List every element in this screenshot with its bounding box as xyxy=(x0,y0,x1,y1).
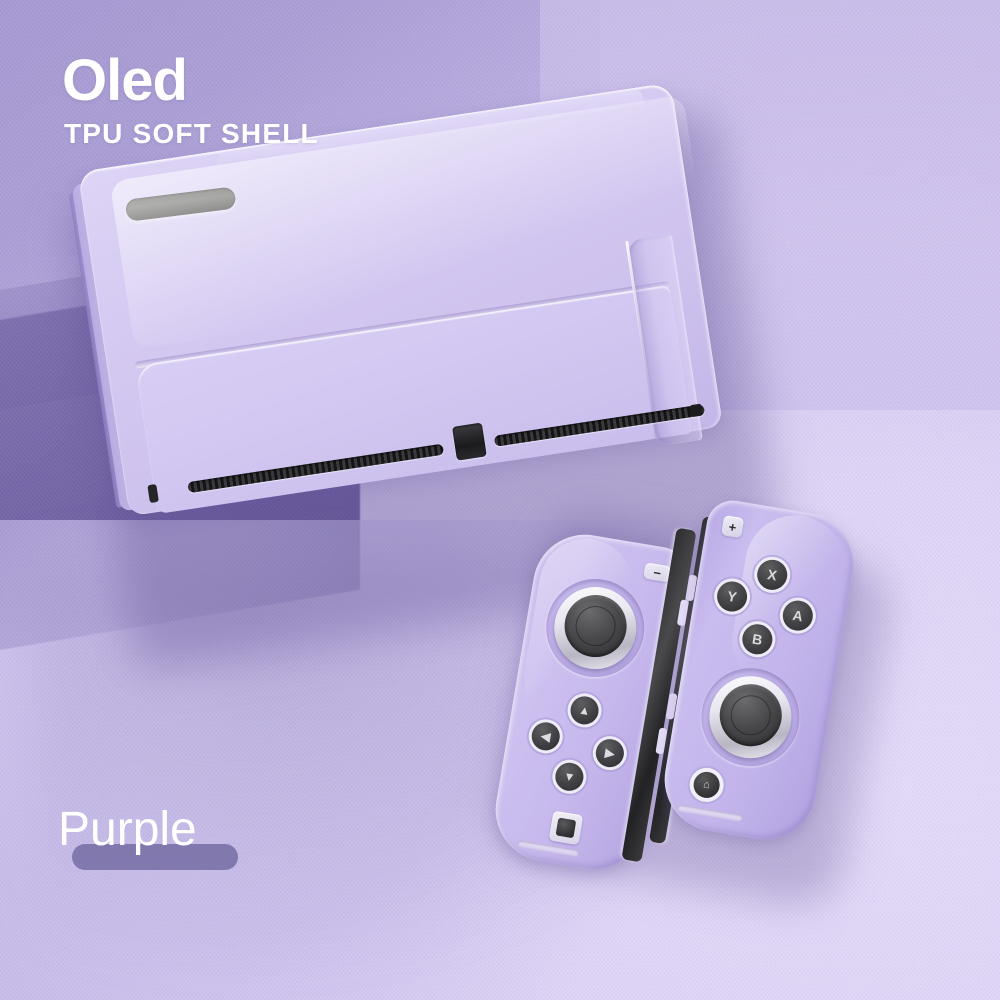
a-button-label: A xyxy=(792,607,805,624)
dpad-right-button[interactable]: ▶ xyxy=(594,737,626,769)
x-button-label: X xyxy=(766,566,778,583)
minus-label: − xyxy=(652,565,662,579)
b-button[interactable]: B xyxy=(740,622,775,657)
color-name-badge: Purple xyxy=(58,800,298,880)
a-button[interactable]: A xyxy=(781,598,816,633)
y-button[interactable]: Y xyxy=(715,579,750,614)
dpad-left-button[interactable]: ◀ xyxy=(530,720,562,752)
dpad-down-button[interactable]: ▼ xyxy=(553,761,585,793)
joycon-right-bottom-slot xyxy=(677,804,743,822)
plus-label: + xyxy=(728,520,738,534)
page-title: Oled xyxy=(62,52,319,110)
title-block: Oled TPU SOFT SHELL xyxy=(62,52,319,148)
plus-button[interactable]: + xyxy=(721,515,744,538)
page-subtitle: TPU SOFT SHELL xyxy=(64,120,319,148)
x-button[interactable]: X xyxy=(755,558,790,593)
dpad-left-icon: ◀ xyxy=(540,730,551,743)
dpad-down-icon: ▼ xyxy=(563,770,577,784)
product-image-scene: − ▲ ◀ ▶ ▼ xyxy=(0,0,1000,1000)
usb-c-port-cutout xyxy=(452,423,487,461)
capture-icon xyxy=(556,818,576,838)
dpad-up-button[interactable]: ▲ xyxy=(568,694,600,726)
y-button-label: Y xyxy=(726,588,738,605)
home-icon: ⌂ xyxy=(702,779,710,791)
dpad-up-icon: ▲ xyxy=(578,703,592,717)
home-button[interactable]: ⌂ xyxy=(692,770,722,800)
joycon-pair: − ▲ ◀ ▶ ▼ xyxy=(500,495,890,895)
kickstand-hinge-slot xyxy=(125,186,237,221)
b-button-label: B xyxy=(751,631,764,648)
case-corner-cutout-right xyxy=(689,404,703,418)
capture-button[interactable] xyxy=(549,811,584,846)
color-name-label: Purple xyxy=(58,800,197,860)
dpad-right-icon: ▶ xyxy=(604,746,615,759)
